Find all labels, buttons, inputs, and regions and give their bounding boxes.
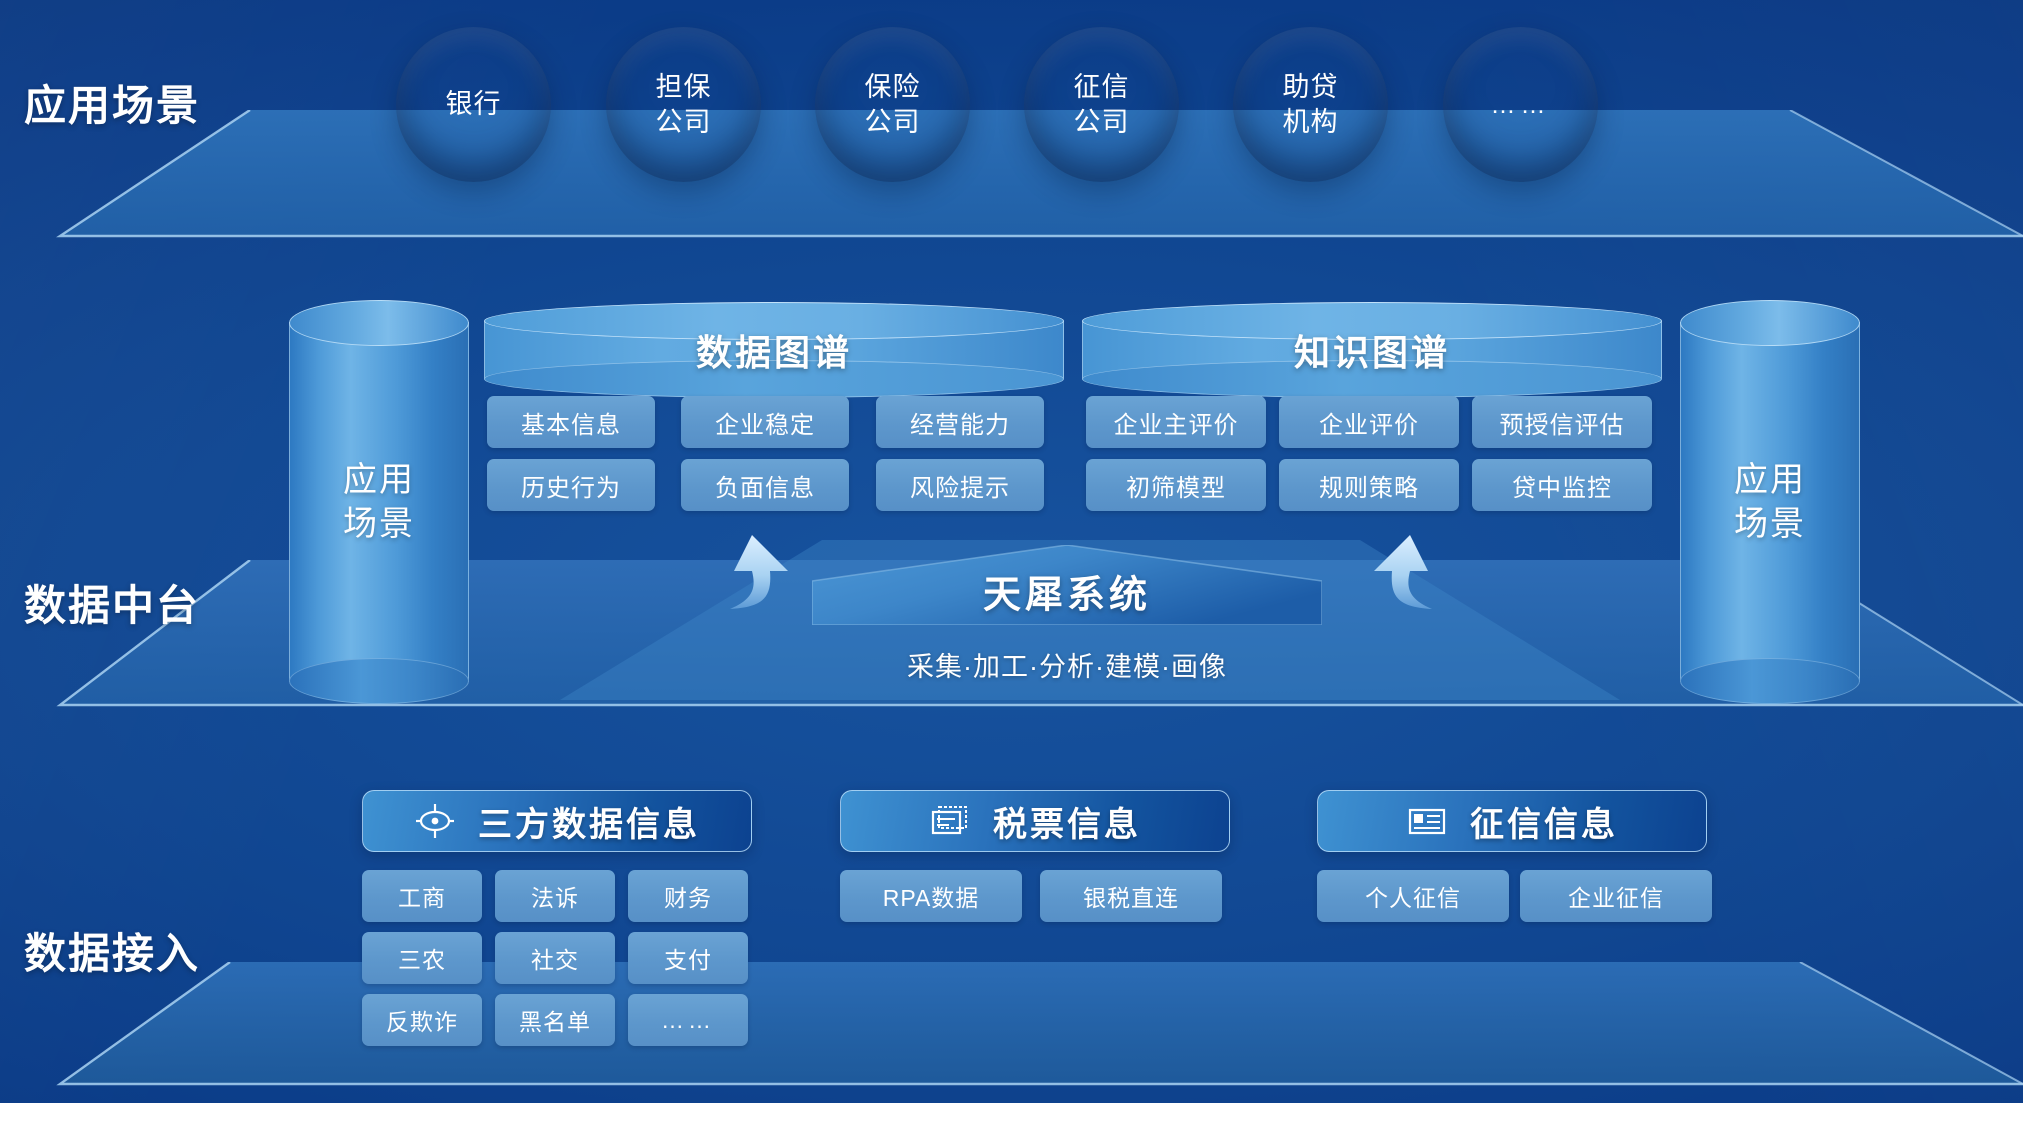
- tag-label: 社交: [531, 941, 579, 975]
- tag-label: 基本信息: [521, 405, 621, 440]
- data-graph-tag-basic-info[interactable]: 基本信息: [487, 396, 655, 448]
- arrow-up-left-icon: [712, 527, 822, 632]
- data-graph-tag-negative-info[interactable]: 负面信息: [681, 459, 849, 511]
- target-icon: [414, 800, 456, 842]
- knowledge-graph-tag-pre-credit-assessment[interactable]: 预授信评估: [1472, 396, 1652, 448]
- disc-data-graph: 数据图谱: [484, 302, 1064, 398]
- knowledge-graph-tag-enterprise-evaluation[interactable]: 企业评价: [1279, 396, 1459, 448]
- tag-label: 企业征信: [1568, 879, 1664, 913]
- tag-label: 银税直连: [1083, 879, 1179, 913]
- tag-label: 三农: [398, 941, 446, 975]
- arrow-up-right-icon: [1340, 527, 1450, 632]
- tax-tag-bank-tax-direct[interactable]: 银税直连: [1040, 870, 1222, 922]
- section-label-ingest: 数据接入: [24, 920, 200, 981]
- tag-label: 工商: [398, 879, 446, 913]
- tag-label: 反欺诈: [386, 1003, 458, 1037]
- disc-title: 数据图谱: [484, 324, 1064, 376]
- ingest-group-header-tax-invoice[interactable]: 税票信息: [840, 790, 1230, 852]
- tag-label: 贷中监控: [1512, 468, 1612, 503]
- cylinder-left-application-scene: 应用 场景: [289, 300, 469, 704]
- section-label-application: 应用场景: [24, 72, 200, 133]
- credit-tag-enterprise[interactable]: 企业征信: [1520, 870, 1712, 922]
- third-party-tag-social[interactable]: 社交: [495, 932, 615, 984]
- sphere-label: 担保 公司: [656, 70, 712, 139]
- scene-sphere-bank[interactable]: 银行: [396, 27, 551, 182]
- diagram-canvas: 应用场景 银行 担保 公司 保险 公司 征信 公司: [0, 0, 2023, 1103]
- scene-sphere-credit-agency[interactable]: 征信 公司: [1024, 27, 1179, 182]
- cylinder-right-application-scene: 应用 场景: [1680, 300, 1860, 704]
- invoice-icon: [929, 800, 971, 842]
- tag-label: ……: [661, 1007, 715, 1034]
- tag-label: 财务: [664, 879, 712, 913]
- section-label-middle: 数据中台: [24, 572, 200, 633]
- tag-label: 企业稳定: [715, 405, 815, 440]
- third-party-tag-more[interactable]: ……: [628, 994, 748, 1046]
- data-graph-tag-historical-behavior[interactable]: 历史行为: [487, 459, 655, 511]
- third-party-tag-business-registration[interactable]: 工商: [362, 870, 482, 922]
- tag-label: 负面信息: [715, 468, 815, 503]
- tag-label: 黑名单: [519, 1003, 591, 1037]
- sphere-label: 征信 公司: [1074, 70, 1130, 139]
- group-title: 三方数据信息: [478, 797, 700, 846]
- sphere-label: 助贷 机构: [1283, 70, 1339, 139]
- data-graph-tag-risk-alert[interactable]: 风险提示: [876, 459, 1044, 511]
- cylinder-bottom-cap: [289, 658, 469, 704]
- data-graph-tag-enterprise-stability[interactable]: 企业稳定: [681, 396, 849, 448]
- scene-sphere-insurance[interactable]: 保险 公司: [815, 27, 970, 182]
- tag-label: 历史行为: [521, 468, 621, 503]
- knowledge-graph-tag-owner-evaluation[interactable]: 企业主评价: [1086, 396, 1266, 448]
- tag-label: 企业主评价: [1114, 405, 1239, 440]
- third-party-tag-finance[interactable]: 财务: [628, 870, 748, 922]
- cylinder-top-cap: [1680, 300, 1860, 346]
- ingest-group-header-credit-report[interactable]: 征信信息: [1317, 790, 1707, 852]
- group-title: 征信信息: [1470, 797, 1618, 846]
- knowledge-graph-tag-rule-strategy[interactable]: 规则策略: [1279, 459, 1459, 511]
- third-party-tag-blacklist[interactable]: 黑名单: [495, 994, 615, 1046]
- credit-tag-personal[interactable]: 个人征信: [1317, 870, 1509, 922]
- disc-knowledge-graph: 知识图谱: [1082, 302, 1662, 398]
- data-graph-tag-operating-capability[interactable]: 经营能力: [876, 396, 1044, 448]
- tag-label: 预授信评估: [1500, 405, 1625, 440]
- cylinder-label: 应用 场景: [1680, 458, 1860, 546]
- platform-data-ingest: [0, 962, 2023, 1094]
- scene-sphere-loan-facilitator[interactable]: 助贷 机构: [1233, 27, 1388, 182]
- third-party-tag-litigation[interactable]: 法诉: [495, 870, 615, 922]
- cylinder-bottom-cap: [1680, 658, 1860, 704]
- third-party-tag-payment[interactable]: 支付: [628, 932, 748, 984]
- third-party-tag-agriculture[interactable]: 三农: [362, 932, 482, 984]
- tax-tag-rpa-data[interactable]: RPA数据: [840, 870, 1022, 922]
- platform-application: [0, 110, 2023, 245]
- architecture-diagram: 应用场景 银行 担保 公司 保险 公司 征信 公司: [0, 0, 2023, 1130]
- scene-sphere-guarantee[interactable]: 担保 公司: [606, 27, 761, 182]
- knowledge-graph-tag-in-loan-monitoring[interactable]: 贷中监控: [1472, 459, 1652, 511]
- tag-label: 企业评价: [1319, 405, 1419, 440]
- third-party-tag-anti-fraud[interactable]: 反欺诈: [362, 994, 482, 1046]
- group-title: 税票信息: [993, 797, 1141, 846]
- tag-label: 个人征信: [1365, 879, 1461, 913]
- sphere-label: ……: [1491, 89, 1551, 121]
- sphere-label: 银行: [446, 87, 502, 122]
- tag-label: 规则策略: [1319, 468, 1419, 503]
- cylinder-top-cap: [289, 300, 469, 346]
- tianxi-system-banner: 天犀系统: [812, 545, 1322, 625]
- tag-label: 初筛模型: [1126, 468, 1226, 503]
- tag-label: 支付: [664, 941, 712, 975]
- tag-label: 经营能力: [910, 405, 1010, 440]
- knowledge-graph-tag-screening-model[interactable]: 初筛模型: [1086, 459, 1266, 511]
- sphere-label: 保险 公司: [865, 70, 921, 139]
- scene-sphere-more[interactable]: ……: [1443, 27, 1598, 182]
- idcard-icon: [1406, 800, 1448, 842]
- ingest-group-header-third-party-data[interactable]: 三方数据信息: [362, 790, 752, 852]
- tianxi-system-title: 天犀系统: [812, 564, 1322, 619]
- tianxi-system-subtitle: 采集·加工·分析·建模·画像: [812, 645, 1322, 684]
- disc-title: 知识图谱: [1082, 324, 1662, 376]
- tag-label: RPA数据: [883, 879, 980, 913]
- tag-label: 风险提示: [910, 468, 1010, 503]
- cylinder-label: 应用 场景: [289, 458, 469, 546]
- tag-label: 法诉: [531, 879, 579, 913]
